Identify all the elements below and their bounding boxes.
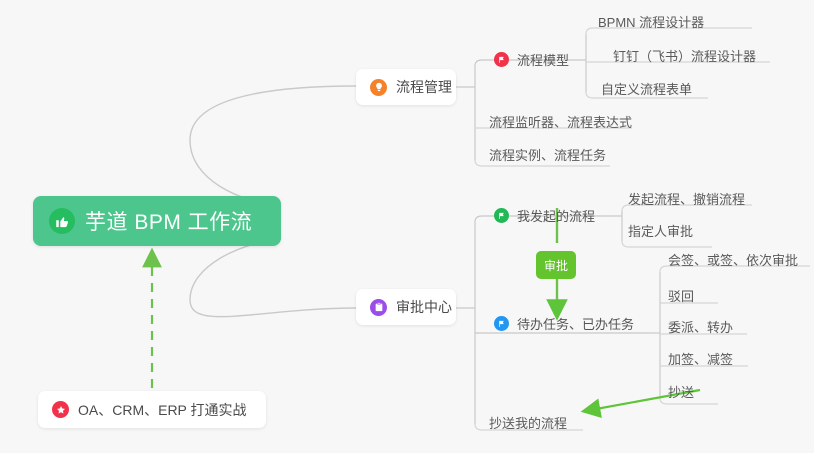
mindmap-canvas: 芋道 BPM 工作流 流程管理 流程模型 BPMN 流程设计器 钉钉（飞书）流程… [0, 0, 814, 453]
leaf-assignee-approval[interactable]: 指定人审批 [628, 221, 693, 243]
flag-red-icon [494, 52, 509, 67]
flag-green-icon [494, 208, 509, 223]
node-my-initiated-flows[interactable]: 我发起的流程 [494, 204, 595, 226]
leaf-carbon-copy[interactable]: 抄送 [668, 382, 694, 404]
node-my-initiated-label: 我发起的流程 [517, 206, 595, 225]
leaf-process-instance[interactable]: 流程实例、流程任务 [489, 145, 606, 167]
leaf-add-remove-sign[interactable]: 加签、减签 [668, 349, 733, 371]
leaf-start-cancel-flow[interactable]: 发起流程、撤销流程 [628, 189, 745, 211]
leaf-custom-form[interactable]: 自定义流程表单 [601, 79, 692, 101]
wire-root-to-approval [190, 239, 356, 317]
wire-root-to-process [190, 86, 356, 206]
star-icon [52, 401, 69, 418]
root-label: 芋道 BPM 工作流 [85, 206, 252, 236]
branch-approval-label: 审批中心 [396, 297, 452, 317]
branch-approval-center[interactable]: 审批中心 [356, 289, 456, 325]
node-todo-done-label: 待办任务、已办任务 [517, 314, 634, 333]
node-process-model-label: 流程模型 [517, 50, 569, 69]
leaf-bpmn-designer[interactable]: BPMN 流程设计器 [598, 12, 704, 34]
leaf-process-listener[interactable]: 流程监听器、流程表达式 [489, 112, 632, 134]
leaf-delegate-transfer[interactable]: 委派、转办 [668, 317, 733, 339]
thumbs-up-icon [49, 208, 75, 234]
branch-process-management[interactable]: 流程管理 [356, 69, 456, 105]
flag-blue-icon [494, 316, 509, 331]
annotation-approval-label: 审批 [544, 257, 568, 274]
leaf-dingtalk-designer[interactable]: 钉钉（飞书）流程设计器 [613, 46, 756, 68]
branch-process-label: 流程管理 [396, 77, 452, 97]
callout-integration-card[interactable]: OA、CRM、ERP 打通实战 [38, 391, 266, 428]
leaf-reject[interactable]: 驳回 [668, 286, 694, 308]
leaf-countersign[interactable]: 会签、或签、依次审批 [668, 250, 798, 272]
annotation-approval-badge[interactable]: 审批 [536, 251, 576, 279]
node-process-model[interactable]: 流程模型 [494, 48, 569, 70]
clipboard-icon [370, 299, 387, 316]
leaf-cc-to-me[interactable]: 抄送我的流程 [489, 413, 567, 435]
lightbulb-icon [370, 79, 387, 96]
callout-label: OA、CRM、ERP 打通实战 [78, 400, 247, 420]
node-todo-done-tasks[interactable]: 待办任务、已办任务 [494, 312, 634, 334]
root-node[interactable]: 芋道 BPM 工作流 [33, 196, 281, 246]
